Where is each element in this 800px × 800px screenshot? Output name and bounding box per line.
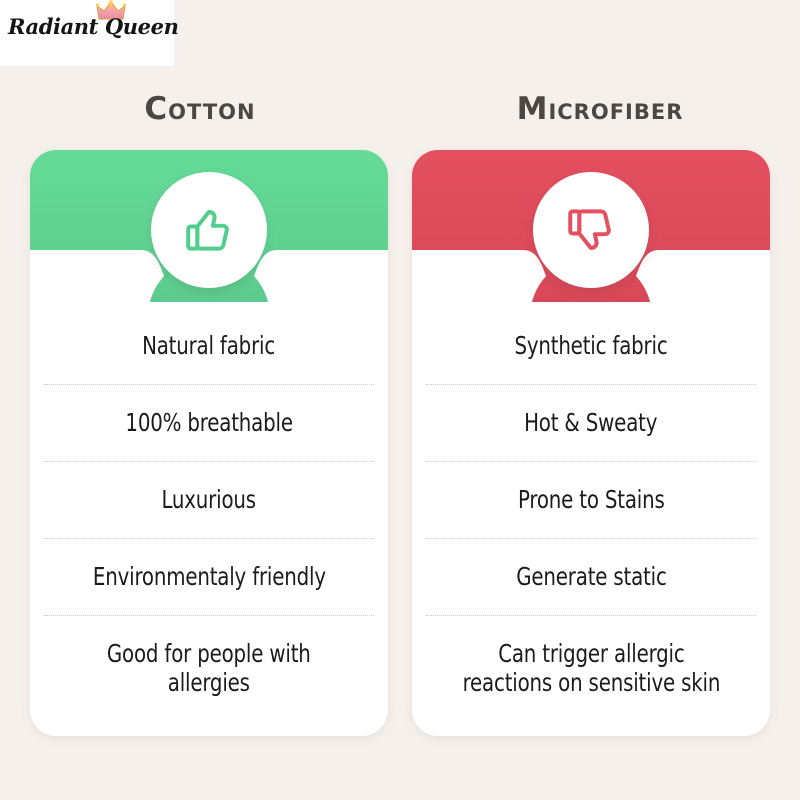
list-item: Luxurious: [44, 462, 374, 539]
feature-text: Synthetic fabric: [514, 331, 667, 361]
feature-text: Natural fabric: [143, 331, 276, 361]
brand-name: Radiant Queen: [8, 14, 166, 39]
list-item: Environmentaly friendly: [44, 539, 374, 616]
list-item: 100% breathable: [44, 385, 374, 462]
feature-text: Prone to Stains: [518, 485, 665, 515]
page-title-microfiber: Microfiber: [517, 83, 684, 127]
verdict-badge-cotton: [151, 172, 267, 288]
list-item: Natural fabric: [44, 308, 374, 385]
list-item: Synthetic fabric: [426, 308, 756, 385]
feature-text: Generate static: [516, 562, 666, 592]
thumbs-down-icon: [563, 202, 619, 258]
card-cotton: Natural fabric 100% breathable Luxurious…: [30, 150, 388, 736]
feature-text: 100% breathable: [125, 408, 292, 438]
list-item: Generate static: [426, 539, 756, 616]
list-item: Hot & Sweaty: [426, 385, 756, 462]
title-cell-microfiber: Microfiber: [400, 74, 800, 136]
feature-list-cotton: Natural fabric 100% breathable Luxurious…: [30, 308, 388, 720]
comparison-cards: Natural fabric 100% breathable Luxurious…: [0, 150, 800, 740]
card-microfiber: Synthetic fabric Hot & Sweaty Prone to S…: [412, 150, 770, 736]
list-item: Prone to Stains: [426, 462, 756, 539]
list-item: Can trigger allergic reactions on sensit…: [426, 616, 756, 720]
verdict-badge-microfiber: [533, 172, 649, 288]
feature-text: Can trigger allergic reactions on sensit…: [462, 639, 720, 698]
column-titles: Cotton Microfiber: [0, 74, 800, 136]
feature-list-microfiber: Synthetic fabric Hot & Sweaty Prone to S…: [412, 308, 770, 720]
page-title-cotton: Cotton: [144, 83, 255, 127]
title-cell-cotton: Cotton: [0, 74, 400, 136]
feature-text: Hot & Sweaty: [524, 408, 657, 438]
feature-text: Luxurious: [162, 485, 256, 515]
feature-text: Environmentaly friendly: [92, 562, 325, 592]
feature-text: Good for people with allergies: [107, 639, 311, 698]
list-item: Good for people with allergies: [44, 616, 374, 720]
thumbs-up-icon: [181, 202, 237, 258]
brand-logo: Radiant Queen: [0, 0, 174, 66]
